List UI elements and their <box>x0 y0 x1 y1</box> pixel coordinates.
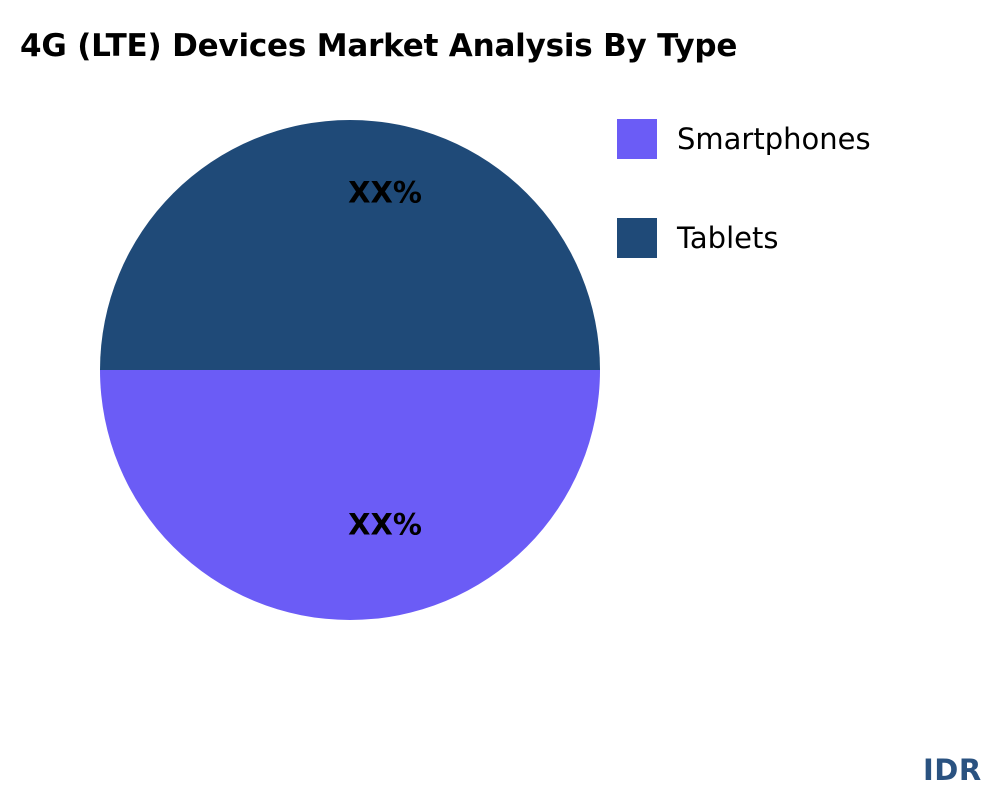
legend-swatch-tablets <box>617 218 657 258</box>
watermark-idr: IDR <box>923 753 982 787</box>
pie-chart-figure: 4G (LTE) Devices Market Analysis By Type… <box>0 0 1000 800</box>
chart-title: 4G (LTE) Devices Market Analysis By Type <box>20 27 737 65</box>
legend-swatch-smartphones <box>617 119 657 159</box>
pie-chart-plot-area: XX% XX% <box>100 120 600 620</box>
legend-item-tablets[interactable]: Tablets <box>617 218 967 258</box>
pie-slice-label-tablets: XX% <box>348 179 422 208</box>
legend-item-smartphones[interactable]: Smartphones <box>617 119 967 159</box>
pie-slice-smartphones[interactable] <box>100 370 600 620</box>
legend-label-smartphones: Smartphones <box>677 119 871 159</box>
pie-slice-label-smartphones: XX% <box>348 511 422 540</box>
chart-legend: Smartphones Tablets <box>617 119 967 258</box>
pie-slice-tablets[interactable] <box>100 120 600 370</box>
legend-label-tablets: Tablets <box>677 218 778 258</box>
